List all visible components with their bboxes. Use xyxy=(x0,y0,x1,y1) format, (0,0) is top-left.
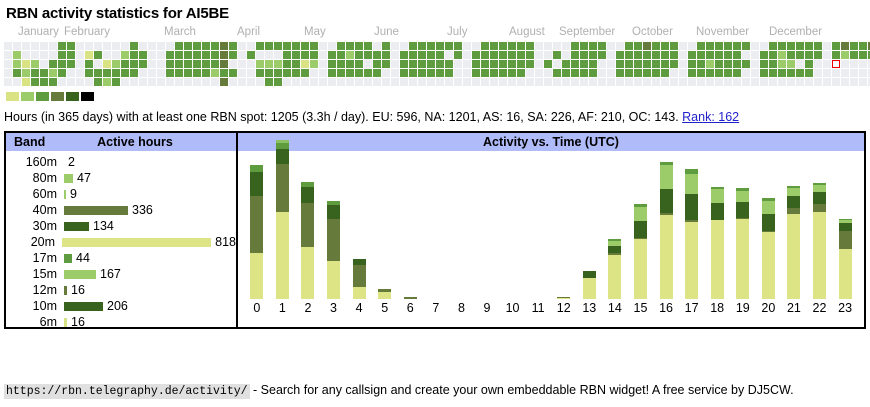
calendar-day-cell[interactable] xyxy=(211,69,219,77)
calendar-day-cell[interactable] xyxy=(715,60,723,68)
calendar-day-cell[interactable] xyxy=(571,60,579,68)
calendar-day-cell[interactable] xyxy=(607,42,615,50)
calendar-day-cell[interactable] xyxy=(148,78,156,86)
calendar-day-cell[interactable] xyxy=(490,51,498,59)
calendar-day-cell[interactable] xyxy=(283,60,291,68)
calendar-day-cell[interactable] xyxy=(598,60,606,68)
calendar-day-cell[interactable] xyxy=(130,69,138,77)
calendar-day-cell[interactable] xyxy=(355,42,363,50)
calendar-day-cell[interactable] xyxy=(292,51,300,59)
calendar-day-cell[interactable] xyxy=(814,42,822,50)
calendar-day-cell[interactable] xyxy=(13,42,21,50)
calendar-day-cell[interactable] xyxy=(175,69,183,77)
calendar-day-cell[interactable] xyxy=(400,51,408,59)
calendar-day-cell[interactable] xyxy=(292,78,300,86)
calendar-day-cell[interactable] xyxy=(301,69,309,77)
calendar-day-cell[interactable] xyxy=(841,69,849,77)
calendar-day-cell[interactable] xyxy=(589,78,597,86)
calendar-day-cell[interactable] xyxy=(742,60,750,68)
calendar-day-cell[interactable] xyxy=(850,42,858,50)
calendar-day-cell[interactable] xyxy=(85,42,93,50)
calendar-day-cell[interactable] xyxy=(553,60,561,68)
calendar-day-cell[interactable] xyxy=(850,60,858,68)
calendar-day-cell[interactable] xyxy=(319,51,327,59)
calendar-day-cell[interactable] xyxy=(463,60,471,68)
calendar-day-cell[interactable] xyxy=(544,42,552,50)
calendar-today-cell[interactable] xyxy=(832,60,840,68)
calendar-day-cell[interactable] xyxy=(184,51,192,59)
calendar-day-cell[interactable] xyxy=(616,78,624,86)
calendar-day-cell[interactable] xyxy=(400,78,408,86)
calendar-day-cell[interactable] xyxy=(778,42,786,50)
activity-hour-column[interactable] xyxy=(449,155,475,299)
calendar-day-cell[interactable] xyxy=(823,51,831,59)
calendar-day-cell[interactable] xyxy=(301,78,309,86)
calendar-day-cell[interactable] xyxy=(625,42,633,50)
calendar-day-cell[interactable] xyxy=(526,69,534,77)
calendar-day-cell[interactable] xyxy=(535,42,543,50)
calendar-day-cell[interactable] xyxy=(463,69,471,77)
calendar-day-cell[interactable] xyxy=(715,69,723,77)
calendar-day-cell[interactable] xyxy=(76,51,84,59)
calendar-day-cell[interactable] xyxy=(490,60,498,68)
calendar-day-cell[interactable] xyxy=(355,69,363,77)
calendar-day-cell[interactable] xyxy=(265,69,273,77)
calendar-day-cell[interactable] xyxy=(796,78,804,86)
calendar-day-cell[interactable] xyxy=(463,78,471,86)
calendar-day-cell[interactable] xyxy=(400,69,408,77)
calendar-day-cell[interactable] xyxy=(58,42,66,50)
activity-hour-column[interactable] xyxy=(756,155,782,299)
calendar-day-cell[interactable] xyxy=(490,42,498,50)
calendar-day-cell[interactable] xyxy=(697,60,705,68)
calendar-day-cell[interactable] xyxy=(247,60,255,68)
calendar-day-cell[interactable] xyxy=(310,51,318,59)
calendar-day-cell[interactable] xyxy=(148,69,156,77)
calendar-day-cell[interactable] xyxy=(733,78,741,86)
calendar-day-cell[interactable] xyxy=(778,51,786,59)
calendar-day-cell[interactable] xyxy=(805,69,813,77)
calendar-day-cell[interactable] xyxy=(562,60,570,68)
calendar-day-cell[interactable] xyxy=(859,42,867,50)
calendar-day-cell[interactable] xyxy=(742,69,750,77)
calendar-day-cell[interactable] xyxy=(724,42,732,50)
calendar-day-cell[interactable] xyxy=(256,69,264,77)
calendar-day-cell[interactable] xyxy=(778,78,786,86)
calendar-day-cell[interactable] xyxy=(166,51,174,59)
calendar-day-cell[interactable] xyxy=(751,78,759,86)
calendar-day-cell[interactable] xyxy=(688,69,696,77)
calendar-day-cell[interactable] xyxy=(580,60,588,68)
calendar-day-cell[interactable] xyxy=(418,60,426,68)
calendar-day-cell[interactable] xyxy=(94,42,102,50)
calendar-day-cell[interactable] xyxy=(751,42,759,50)
calendar-day-cell[interactable] xyxy=(229,51,237,59)
calendar-day-cell[interactable] xyxy=(688,51,696,59)
calendar-day-cell[interactable] xyxy=(679,42,687,50)
calendar-day-cell[interactable] xyxy=(643,78,651,86)
calendar-day-cell[interactable] xyxy=(670,69,678,77)
calendar-day-cell[interactable] xyxy=(679,78,687,86)
activity-hour-column[interactable] xyxy=(781,155,807,299)
calendar-day-cell[interactable] xyxy=(706,78,714,86)
calendar-day-cell[interactable] xyxy=(166,78,174,86)
calendar-day-cell[interactable] xyxy=(733,51,741,59)
calendar-day-cell[interactable] xyxy=(688,78,696,86)
calendar-day-cell[interactable] xyxy=(274,69,282,77)
calendar-day-cell[interactable] xyxy=(634,51,642,59)
calendar-day-cell[interactable] xyxy=(652,60,660,68)
calendar-day-cell[interactable] xyxy=(832,69,840,77)
calendar-day-cell[interactable] xyxy=(310,42,318,50)
activity-hour-column[interactable] xyxy=(730,155,756,299)
calendar-day-cell[interactable] xyxy=(355,78,363,86)
calendar-day-cell[interactable] xyxy=(265,42,273,50)
calendar-day-cell[interactable] xyxy=(499,78,507,86)
calendar-day-cell[interactable] xyxy=(634,42,642,50)
calendar-day-cell[interactable] xyxy=(832,51,840,59)
calendar-day-cell[interactable] xyxy=(715,42,723,50)
calendar-day-cell[interactable] xyxy=(76,60,84,68)
calendar-day-cell[interactable] xyxy=(76,78,84,86)
calendar-day-cell[interactable] xyxy=(472,42,480,50)
calendar-day-cell[interactable] xyxy=(670,78,678,86)
calendar-day-cell[interactable] xyxy=(634,78,642,86)
calendar-day-cell[interactable] xyxy=(103,60,111,68)
calendar-day-cell[interactable] xyxy=(40,42,48,50)
calendar-day-cell[interactable] xyxy=(283,78,291,86)
calendar-day-cell[interactable] xyxy=(373,42,381,50)
calendar-day-cell[interactable] xyxy=(427,78,435,86)
calendar-day-cell[interactable] xyxy=(58,60,66,68)
calendar-day-cell[interactable] xyxy=(202,78,210,86)
calendar-day-cell[interactable] xyxy=(643,60,651,68)
calendar-day-cell[interactable] xyxy=(175,78,183,86)
calendar-day-cell[interactable] xyxy=(67,69,75,77)
activity-hour-column[interactable] xyxy=(653,155,679,299)
calendar-day-cell[interactable] xyxy=(175,42,183,50)
calendar-day-cell[interactable] xyxy=(283,69,291,77)
calendar-day-cell[interactable] xyxy=(427,69,435,77)
calendar-day-cell[interactable] xyxy=(625,78,633,86)
calendar-day-cell[interactable] xyxy=(202,42,210,50)
calendar-day-cell[interactable] xyxy=(409,78,417,86)
calendar-day-cell[interactable] xyxy=(220,51,228,59)
activity-hour-column[interactable] xyxy=(832,155,858,299)
calendar-day-cell[interactable] xyxy=(508,60,516,68)
calendar-day-cell[interactable] xyxy=(760,69,768,77)
calendar-day-cell[interactable] xyxy=(517,69,525,77)
calendar-day-cell[interactable] xyxy=(481,78,489,86)
calendar-day-cell[interactable] xyxy=(616,51,624,59)
calendar-day-cell[interactable] xyxy=(328,42,336,50)
calendar-day-cell[interactable] xyxy=(499,69,507,77)
calendar-day-cell[interactable] xyxy=(121,78,129,86)
calendar-day-cell[interactable] xyxy=(715,51,723,59)
calendar-day-cell[interactable] xyxy=(481,69,489,77)
calendar-day-cell[interactable] xyxy=(274,78,282,86)
calendar-day-cell[interactable] xyxy=(724,51,732,59)
calendar-day-cell[interactable] xyxy=(256,51,264,59)
calendar-day-cell[interactable] xyxy=(22,78,30,86)
calendar-day-cell[interactable] xyxy=(247,78,255,86)
calendar-day-cell[interactable] xyxy=(292,42,300,50)
calendar-day-cell[interactable] xyxy=(220,60,228,68)
calendar-day-cell[interactable] xyxy=(67,60,75,68)
activity-hour-column[interactable] xyxy=(372,155,398,299)
calendar-day-cell[interactable] xyxy=(22,60,30,68)
calendar-day-cell[interactable] xyxy=(823,60,831,68)
calendar-day-cell[interactable] xyxy=(823,78,831,86)
calendar-day-cell[interactable] xyxy=(580,51,588,59)
calendar-day-cell[interactable] xyxy=(553,42,561,50)
calendar-day-cell[interactable] xyxy=(787,69,795,77)
calendar-day-cell[interactable] xyxy=(733,69,741,77)
calendar-day-cell[interactable] xyxy=(49,60,57,68)
calendar-day-cell[interactable] xyxy=(220,69,228,77)
activity-hour-column[interactable] xyxy=(397,155,423,299)
calendar-day-cell[interactable] xyxy=(13,51,21,59)
calendar-day-cell[interactable] xyxy=(454,78,462,86)
calendar-day-cell[interactable] xyxy=(436,78,444,86)
calendar-day-cell[interactable] xyxy=(760,60,768,68)
calendar-day-cell[interactable] xyxy=(166,60,174,68)
rank-link[interactable]: Rank: 162 xyxy=(682,110,739,124)
calendar-day-cell[interactable] xyxy=(166,42,174,50)
calendar-day-cell[interactable] xyxy=(490,69,498,77)
calendar-day-cell[interactable] xyxy=(130,42,138,50)
calendar-day-cell[interactable] xyxy=(364,60,372,68)
calendar-day-cell[interactable] xyxy=(769,60,777,68)
calendar-day-cell[interactable] xyxy=(67,42,75,50)
calendar-day-cell[interactable] xyxy=(337,51,345,59)
calendar-day-cell[interactable] xyxy=(22,69,30,77)
calendar-day-cell[interactable] xyxy=(346,69,354,77)
calendar-day-cell[interactable] xyxy=(535,69,543,77)
calendar-day-cell[interactable] xyxy=(148,60,156,68)
calendar-day-cell[interactable] xyxy=(238,60,246,68)
calendar-day-cell[interactable] xyxy=(625,69,633,77)
calendar-day-cell[interactable] xyxy=(805,51,813,59)
activity-hour-column[interactable] xyxy=(551,155,577,299)
activity-hour-column[interactable] xyxy=(500,155,526,299)
calendar-day-cell[interactable] xyxy=(4,69,12,77)
calendar-day-cell[interactable] xyxy=(382,51,390,59)
calendar-day-cell[interactable] xyxy=(796,69,804,77)
calendar-day-cell[interactable] xyxy=(454,69,462,77)
calendar-day-cell[interactable] xyxy=(535,51,543,59)
calendar-day-cell[interactable] xyxy=(850,78,858,86)
calendar-day-cell[interactable] xyxy=(22,42,30,50)
calendar-day-cell[interactable] xyxy=(517,42,525,50)
calendar-day-cell[interactable] xyxy=(103,78,111,86)
calendar-day-cell[interactable] xyxy=(661,51,669,59)
calendar-day-cell[interactable] xyxy=(67,78,75,86)
calendar-day-cell[interactable] xyxy=(796,42,804,50)
calendar-day-cell[interactable] xyxy=(589,60,597,68)
calendar-day-cell[interactable] xyxy=(301,51,309,59)
calendar-day-cell[interactable] xyxy=(706,69,714,77)
calendar-day-cell[interactable] xyxy=(364,51,372,59)
calendar-day-cell[interactable] xyxy=(49,51,57,59)
calendar-day-cell[interactable] xyxy=(454,60,462,68)
calendar-day-cell[interactable] xyxy=(859,60,867,68)
calendar-day-cell[interactable] xyxy=(166,69,174,77)
calendar-day-cell[interactable] xyxy=(85,69,93,77)
calendar-day-cell[interactable] xyxy=(211,42,219,50)
calendar-day-cell[interactable] xyxy=(346,60,354,68)
calendar-day-cell[interactable] xyxy=(94,69,102,77)
calendar-day-cell[interactable] xyxy=(139,42,147,50)
calendar-day-cell[interactable] xyxy=(832,42,840,50)
calendar-day-cell[interactable] xyxy=(742,42,750,50)
calendar-day-cell[interactable] xyxy=(760,42,768,50)
calendar-day-cell[interactable] xyxy=(697,69,705,77)
calendar-day-cell[interactable] xyxy=(310,69,318,77)
calendar-day-cell[interactable] xyxy=(544,60,552,68)
calendar-day-cell[interactable] xyxy=(652,69,660,77)
activity-hour-column[interactable] xyxy=(525,155,551,299)
calendar-day-cell[interactable] xyxy=(274,42,282,50)
calendar-day-cell[interactable] xyxy=(661,60,669,68)
calendar-day-cell[interactable] xyxy=(292,60,300,68)
calendar-day-cell[interactable] xyxy=(391,60,399,68)
calendar-day-cell[interactable] xyxy=(778,69,786,77)
calendar-day-cell[interactable] xyxy=(499,51,507,59)
calendar-day-cell[interactable] xyxy=(211,51,219,59)
calendar-day-cell[interactable] xyxy=(121,69,129,77)
calendar-day-cell[interactable] xyxy=(40,51,48,59)
calendar-day-cell[interactable] xyxy=(508,69,516,77)
calendar-day-cell[interactable] xyxy=(724,78,732,86)
calendar-day-cell[interactable] xyxy=(76,42,84,50)
calendar-day-cell[interactable] xyxy=(40,60,48,68)
calendar-day-cell[interactable] xyxy=(139,69,147,77)
calendar-day-cell[interactable] xyxy=(175,51,183,59)
activity-hour-column[interactable] xyxy=(679,155,705,299)
calendar-day-cell[interactable] xyxy=(517,78,525,86)
calendar-day-cell[interactable] xyxy=(337,42,345,50)
calendar-day-cell[interactable] xyxy=(382,69,390,77)
calendar-day-cell[interactable] xyxy=(472,69,480,77)
calendar-day-cell[interactable] xyxy=(445,69,453,77)
calendar-day-cell[interactable] xyxy=(229,69,237,77)
calendar-day-cell[interactable] xyxy=(787,51,795,59)
calendar-day-cell[interactable] xyxy=(571,69,579,77)
calendar-day-cell[interactable] xyxy=(139,51,147,59)
calendar-day-cell[interactable] xyxy=(319,60,327,68)
calendar-day-cell[interactable] xyxy=(427,51,435,59)
calendar-day-cell[interactable] xyxy=(373,69,381,77)
calendar-day-cell[interactable] xyxy=(823,42,831,50)
calendar-day-cell[interactable] xyxy=(364,78,372,86)
calendar-day-cell[interactable] xyxy=(472,60,480,68)
calendar-day-cell[interactable] xyxy=(409,51,417,59)
calendar-day-cell[interactable] xyxy=(481,60,489,68)
calendar-day-cell[interactable] xyxy=(526,51,534,59)
calendar-day-cell[interactable] xyxy=(508,51,516,59)
calendar-day-cell[interactable] xyxy=(391,69,399,77)
calendar-day-cell[interactable] xyxy=(634,69,642,77)
activity-hour-column[interactable] xyxy=(295,155,321,299)
calendar-day-cell[interactable] xyxy=(94,78,102,86)
calendar-day-cell[interactable] xyxy=(679,69,687,77)
calendar-day-cell[interactable] xyxy=(31,51,39,59)
activity-hour-column[interactable] xyxy=(244,155,270,299)
footer-url[interactable]: https://rbn.telegraphy.de/activity/ xyxy=(4,384,250,399)
calendar-day-cell[interactable] xyxy=(184,78,192,86)
calendar-day-cell[interactable] xyxy=(256,78,264,86)
calendar-day-cell[interactable] xyxy=(310,78,318,86)
calendar-day-cell[interactable] xyxy=(589,69,597,77)
calendar-day-cell[interactable] xyxy=(193,78,201,86)
calendar-day-cell[interactable] xyxy=(805,60,813,68)
calendar-day-cell[interactable] xyxy=(247,42,255,50)
calendar-day-cell[interactable] xyxy=(283,51,291,59)
calendar-day-cell[interactable] xyxy=(85,60,93,68)
calendar-day-cell[interactable] xyxy=(148,51,156,59)
calendar-day-cell[interactable] xyxy=(22,51,30,59)
calendar-day-cell[interactable] xyxy=(157,60,165,68)
activity-hour-column[interactable] xyxy=(474,155,500,299)
calendar-day-cell[interactable] xyxy=(553,78,561,86)
calendar-day-cell[interactable] xyxy=(841,42,849,50)
calendar-day-cell[interactable] xyxy=(652,42,660,50)
calendar-day-cell[interactable] xyxy=(112,42,120,50)
calendar-day-cell[interactable] xyxy=(814,60,822,68)
calendar-day-cell[interactable] xyxy=(598,69,606,77)
calendar-day-cell[interactable] xyxy=(760,51,768,59)
calendar-day-cell[interactable] xyxy=(148,42,156,50)
calendar-day-cell[interactable] xyxy=(751,60,759,68)
calendar-day-cell[interactable] xyxy=(742,78,750,86)
calendar-day-cell[interactable] xyxy=(418,51,426,59)
calendar-day-cell[interactable] xyxy=(265,78,273,86)
calendar-day-cell[interactable] xyxy=(535,78,543,86)
calendar-day-cell[interactable] xyxy=(301,42,309,50)
calendar-day-cell[interactable] xyxy=(103,69,111,77)
calendar-day-cell[interactable] xyxy=(724,69,732,77)
calendar-day-cell[interactable] xyxy=(481,42,489,50)
calendar-day-cell[interactable] xyxy=(580,42,588,50)
calendar-day-cell[interactable] xyxy=(697,42,705,50)
calendar-day-cell[interactable] xyxy=(274,51,282,59)
calendar-day-cell[interactable] xyxy=(643,69,651,77)
calendar-day-cell[interactable] xyxy=(103,42,111,50)
calendar-day-cell[interactable] xyxy=(121,60,129,68)
calendar-day-cell[interactable] xyxy=(373,60,381,68)
calendar-day-cell[interactable] xyxy=(787,60,795,68)
calendar-day-cell[interactable] xyxy=(4,60,12,68)
calendar-day-cell[interactable] xyxy=(787,42,795,50)
calendar-day-cell[interactable] xyxy=(436,51,444,59)
calendar-day-cell[interactable] xyxy=(526,60,534,68)
calendar-day-cell[interactable] xyxy=(769,42,777,50)
calendar-day-cell[interactable] xyxy=(706,42,714,50)
calendar-day-cell[interactable] xyxy=(202,69,210,77)
calendar-day-cell[interactable] xyxy=(508,42,516,50)
calendar-day-cell[interactable] xyxy=(391,51,399,59)
calendar-day-cell[interactable] xyxy=(580,69,588,77)
calendar-day-cell[interactable] xyxy=(274,60,282,68)
calendar-day-cell[interactable] xyxy=(544,69,552,77)
calendar-day-cell[interactable] xyxy=(580,78,588,86)
calendar-day-cell[interactable] xyxy=(688,60,696,68)
calendar-day-cell[interactable] xyxy=(778,60,786,68)
calendar-day-cell[interactable] xyxy=(112,69,120,77)
calendar-day-cell[interactable] xyxy=(742,51,750,59)
calendar-day-cell[interactable] xyxy=(607,60,615,68)
